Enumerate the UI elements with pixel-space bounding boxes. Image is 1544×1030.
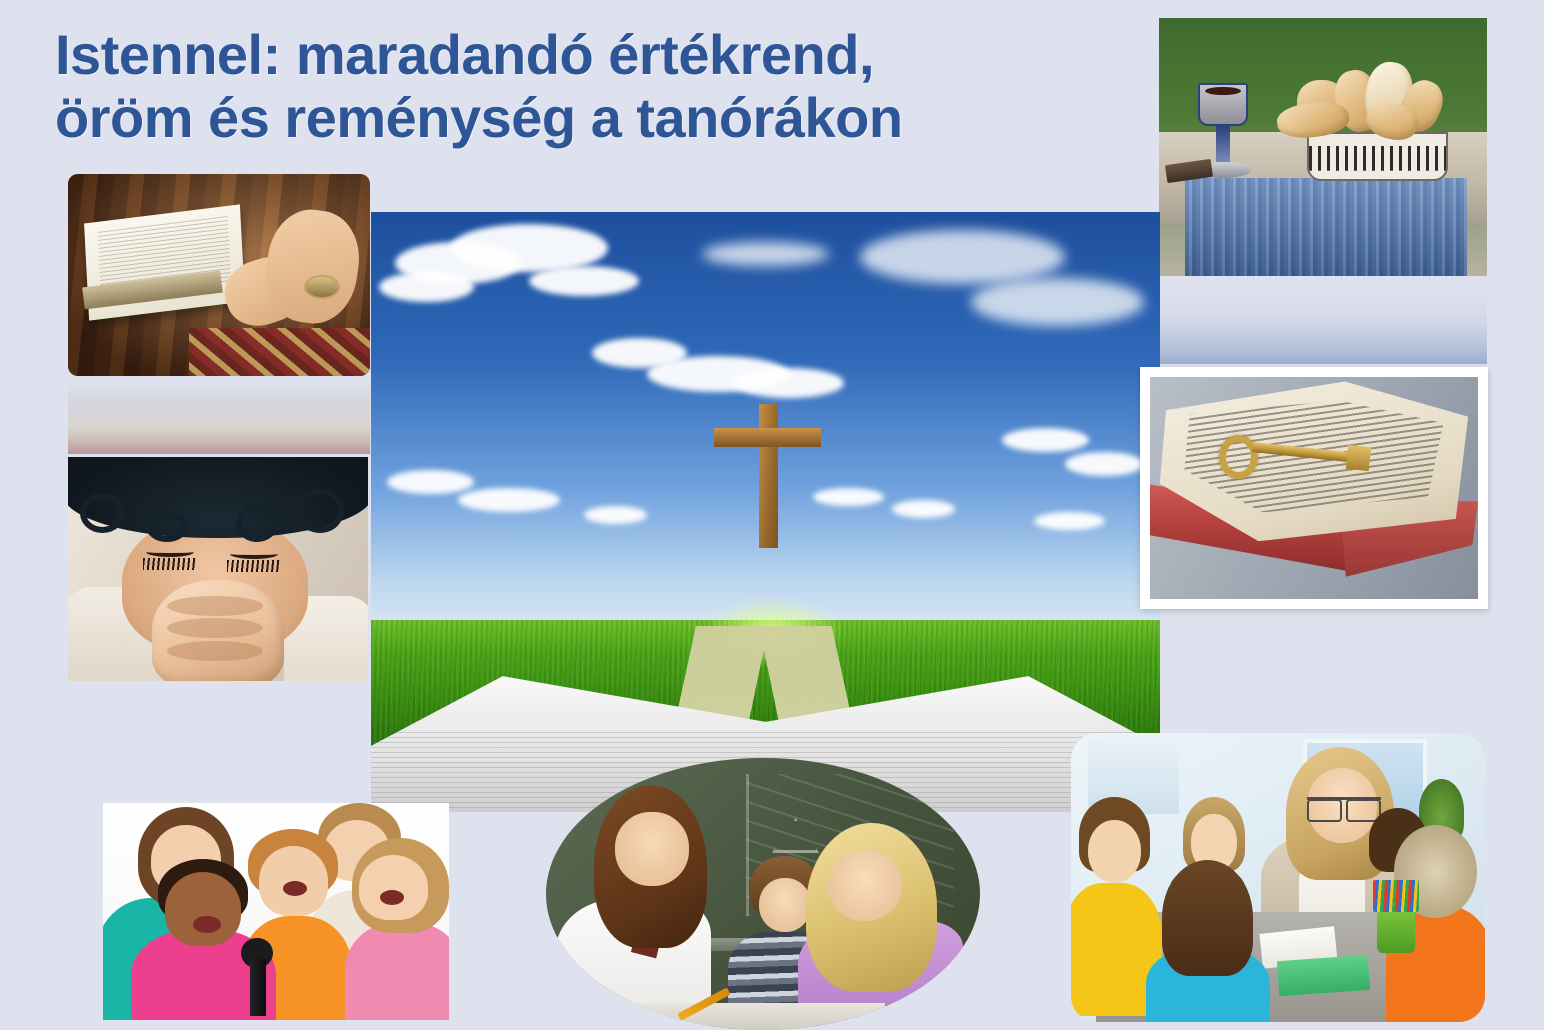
chalice-stem bbox=[1216, 126, 1229, 167]
cloud bbox=[813, 488, 884, 506]
slide-title: Istennel: maradandó értékrend, öröm és r… bbox=[55, 24, 1115, 149]
cross-horizontal-beam bbox=[714, 428, 821, 447]
children-singing-with-microphone-photo bbox=[103, 803, 449, 1020]
child-body bbox=[345, 922, 449, 1020]
hair-curl bbox=[296, 488, 344, 533]
cloud bbox=[529, 266, 639, 296]
golden-key-on-open-book-photo bbox=[1150, 377, 1478, 599]
knuckle bbox=[167, 641, 263, 661]
cloud bbox=[734, 368, 844, 398]
chalice-cup bbox=[1198, 83, 1247, 127]
cloud bbox=[1034, 512, 1105, 530]
teacher-face bbox=[615, 812, 689, 885]
microphone-handle bbox=[250, 959, 266, 1015]
green-notebook bbox=[1277, 955, 1370, 996]
desk bbox=[598, 1003, 884, 1030]
eyelashes bbox=[227, 560, 281, 572]
hair-curl bbox=[236, 506, 278, 542]
cloud bbox=[892, 500, 955, 518]
open-mouth bbox=[380, 890, 404, 905]
teacher-with-two-students-oval-photo bbox=[546, 758, 980, 1030]
key-bit bbox=[1346, 445, 1371, 472]
key-photo-white-frame bbox=[1140, 367, 1488, 609]
cross-vertical-beam bbox=[759, 404, 778, 548]
cloud bbox=[450, 224, 608, 272]
cloud bbox=[584, 506, 647, 524]
cloud bbox=[860, 230, 1065, 284]
cloud bbox=[379, 272, 474, 302]
eyeglasses-icon bbox=[1307, 797, 1382, 811]
knuckle bbox=[167, 596, 263, 616]
hair-curl bbox=[146, 511, 188, 542]
cloud bbox=[1002, 428, 1089, 452]
cloud bbox=[458, 488, 561, 512]
pencil-cup bbox=[1377, 906, 1414, 952]
cloud bbox=[387, 470, 474, 494]
open-mouth bbox=[193, 916, 221, 933]
cloud bbox=[702, 242, 828, 266]
teacher-with-pupils-at-table-photo bbox=[1071, 733, 1485, 1022]
hair-curl bbox=[80, 493, 125, 533]
child-face bbox=[359, 855, 428, 920]
eyelashes bbox=[143, 558, 197, 570]
key-bow bbox=[1219, 435, 1258, 479]
praying-child-photo bbox=[68, 457, 368, 681]
child-face bbox=[165, 872, 241, 946]
student-girl-face bbox=[828, 850, 902, 921]
pupil-hair bbox=[1162, 860, 1253, 976]
closed-eye bbox=[146, 547, 194, 557]
blue-cloth bbox=[1185, 178, 1467, 276]
ceramic-bowl bbox=[1307, 132, 1448, 181]
cloud bbox=[1065, 452, 1144, 476]
pupil-face bbox=[1088, 820, 1142, 884]
hands-holding-open-book-photo bbox=[68, 174, 370, 376]
patterned-skirt bbox=[189, 328, 370, 376]
wooden-cross-in-green-field-photo bbox=[371, 212, 1160, 812]
presentation-slide: Istennel: maradandó értékrend, öröm és r… bbox=[0, 0, 1544, 1030]
cloud bbox=[971, 278, 1145, 326]
communion-bread-and-chalice-photo bbox=[1159, 18, 1487, 276]
book-photo-reflection bbox=[68, 376, 370, 454]
communion-photo-reflection bbox=[1159, 276, 1487, 364]
closed-eye bbox=[230, 549, 278, 559]
wristwatch bbox=[304, 275, 340, 299]
student-boy-face bbox=[759, 878, 811, 932]
